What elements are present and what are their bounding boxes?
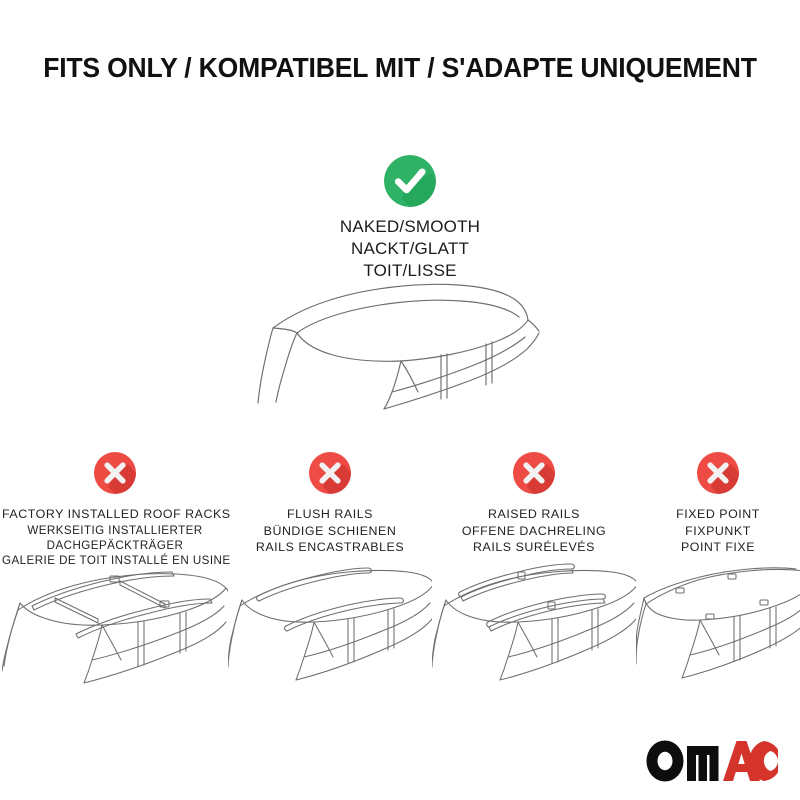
- x-circle-icon: [432, 452, 636, 499]
- x-circle-icon: [636, 452, 800, 499]
- label-line-1: FLUSH RAILS: [228, 506, 432, 523]
- compatible-label-de: NACKT/GLATT: [230, 238, 590, 260]
- incompatible-item-fixed-point: FIXED POINT FIXPUNKT POINT FIXE: [636, 452, 800, 702]
- label-line-1: RAISED RAILS: [432, 506, 636, 523]
- car-roof-fixed-point-illustration: [636, 548, 800, 698]
- car-roof-factory-rack-illustration: [2, 548, 228, 698]
- omac-logo: [646, 740, 778, 782]
- car-roof-naked-smooth-illustration: [255, 275, 565, 410]
- x-circle-icon: [2, 452, 228, 499]
- check-circle-icon: [384, 155, 436, 207]
- incompatible-item-flush-rails: FLUSH RAILS BÜNDIGE SCHIENEN RAILS ENCAS…: [228, 452, 432, 702]
- logo-letter-m: [687, 746, 719, 781]
- label-line-1: FIXED POINT: [636, 506, 800, 523]
- compatible-label-en: NAKED/SMOOTH: [230, 216, 590, 238]
- page-title: FITS ONLY / KOMPATIBEL MIT / S'ADAPTE UN…: [14, 52, 786, 84]
- label-line-2: OFFENE DACHRELING: [432, 523, 636, 540]
- car-roof-flush-rails-illustration: [228, 548, 432, 698]
- label-line-2: BÜNDIGE SCHIENEN: [228, 523, 432, 540]
- label-line-1: FACTORY INSTALLED ROOF RACKS: [2, 506, 228, 523]
- x-circle-icon: [228, 452, 432, 499]
- compatible-labels: NAKED/SMOOTH NACKT/GLATT TOIT/LISSE: [230, 216, 590, 282]
- logo-letter-o: [647, 741, 684, 782]
- car-roof-raised-rails-illustration: [432, 548, 636, 698]
- label-line-2: WERKSEITIG INSTALLIERTER: [2, 523, 228, 538]
- compatible-section: NAKED/SMOOTH NACKT/GLATT TOIT/LISSE: [230, 155, 590, 282]
- incompatible-section: FACTORY INSTALLED ROOF RACKS WERKSEITIG …: [0, 452, 800, 702]
- incompatible-item-raised-rails: RAISED RAILS OFFENE DACHRELING RAILS SUR…: [432, 452, 636, 702]
- incompatible-item-factory-installed-roof-racks: FACTORY INSTALLED ROOF RACKS WERKSEITIG …: [2, 452, 228, 702]
- label-line-2: FIXPUNKT: [636, 523, 800, 540]
